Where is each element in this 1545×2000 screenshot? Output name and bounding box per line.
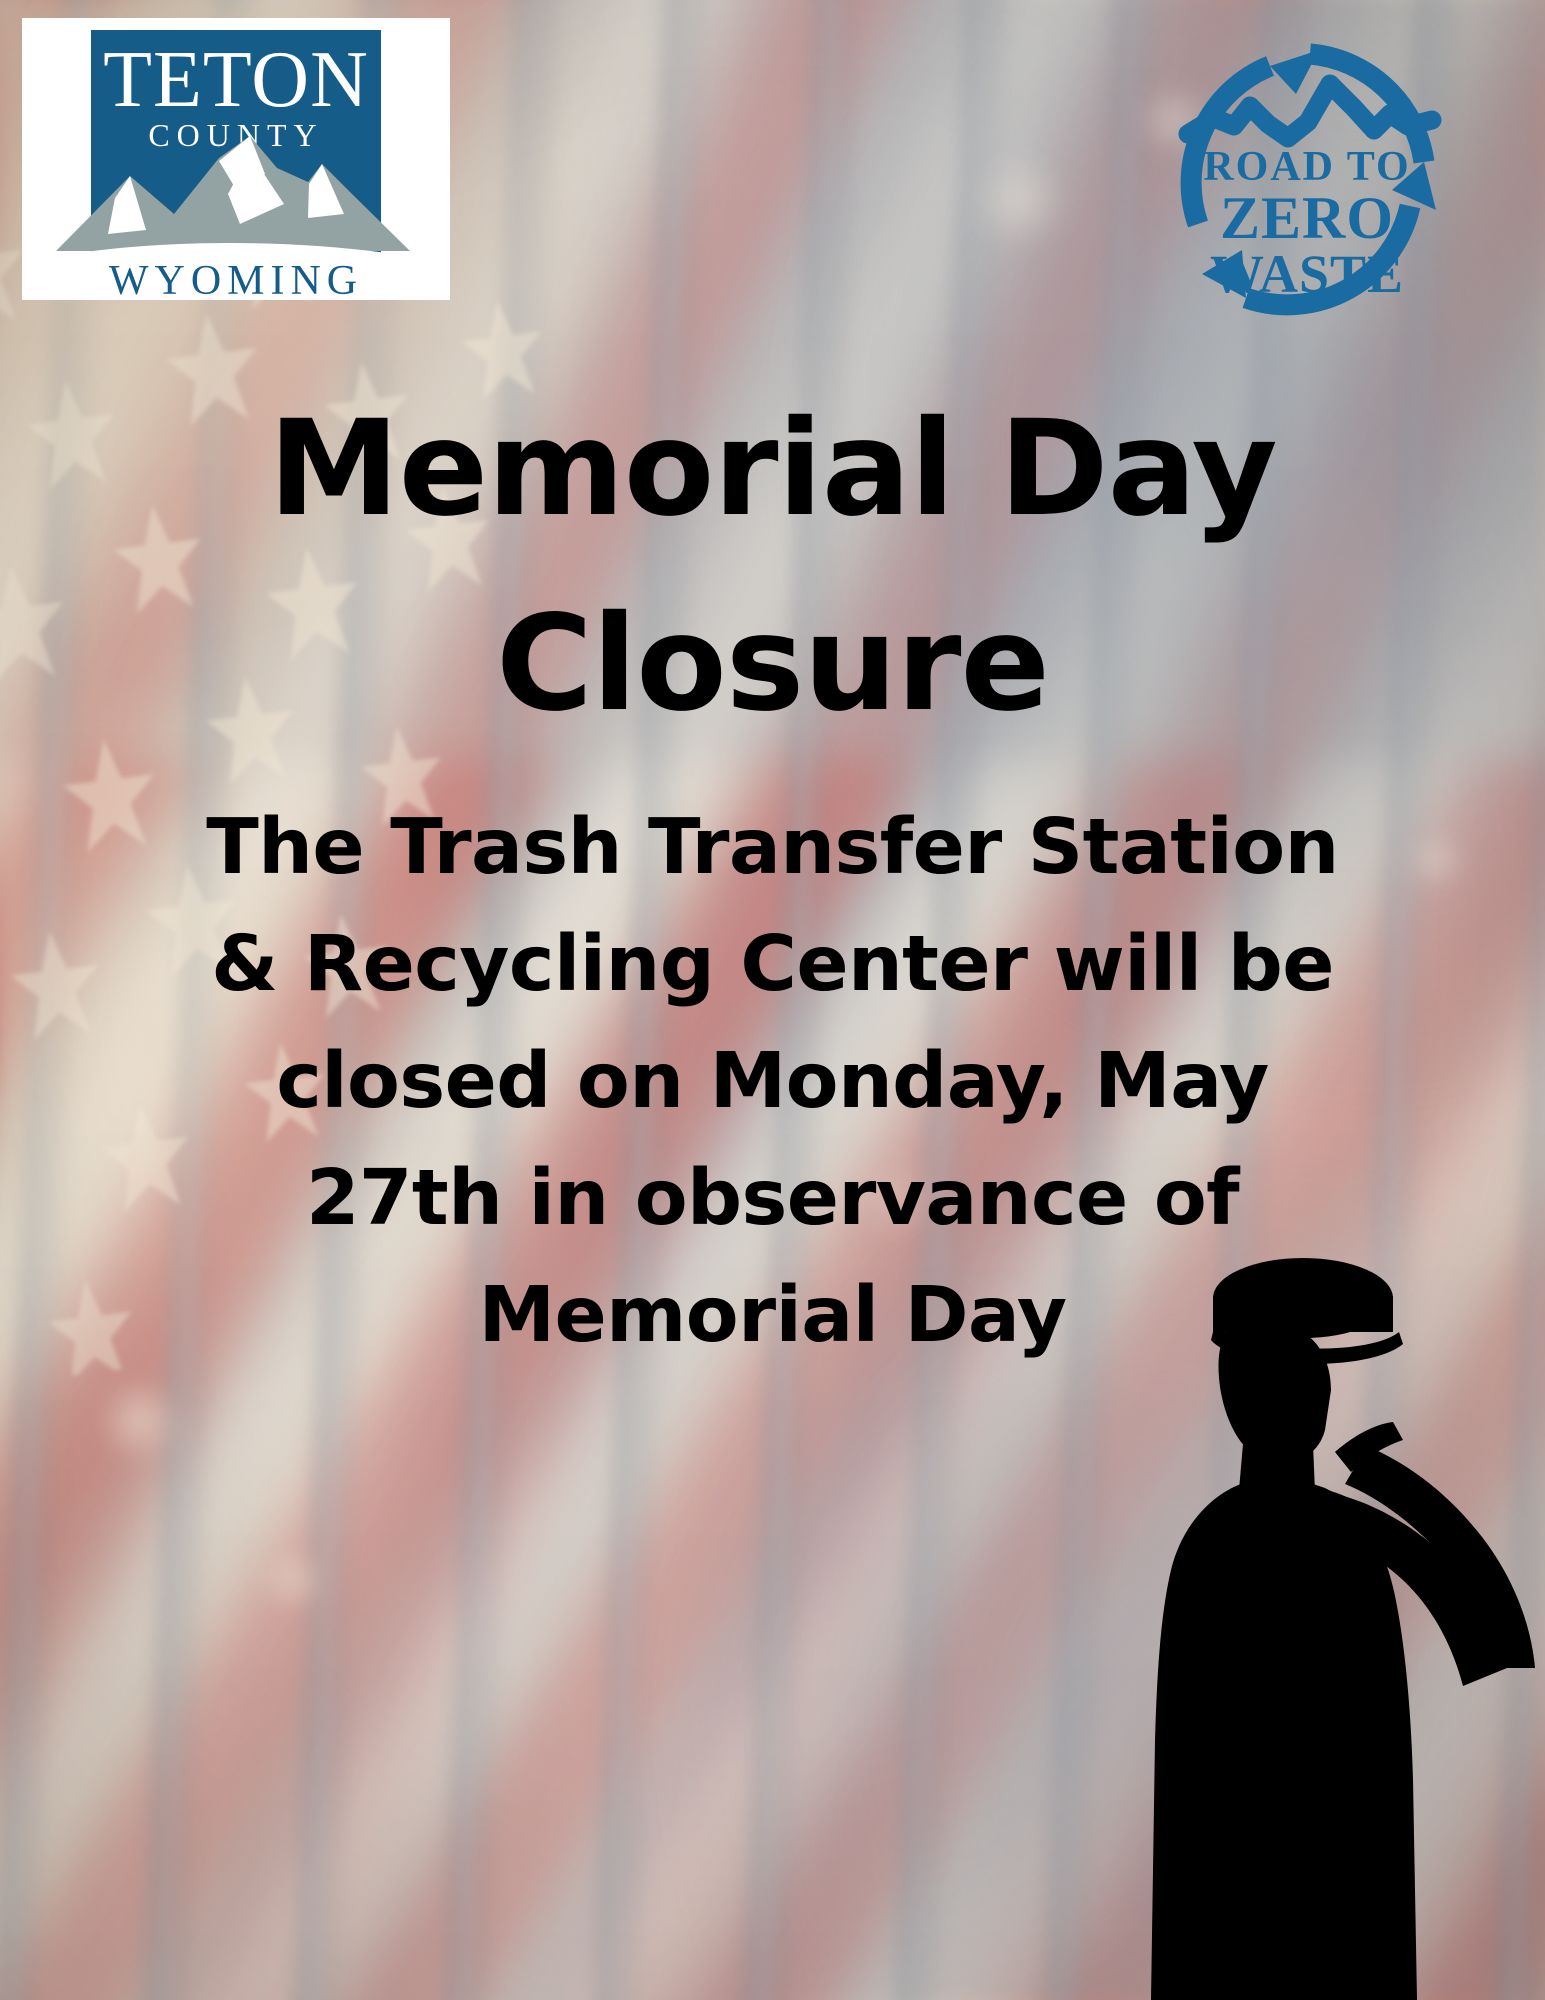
teton-logo-line3: WYOMING xyxy=(109,258,363,300)
memorial-day-closure-poster: TETON COUNTY WYOMING xyxy=(0,0,1545,2000)
closure-message-line: Memorial Day xyxy=(12,1257,1533,1374)
zero-waste-line1: ROAD TO xyxy=(1203,144,1410,190)
teton-county-wyoming-logo: TETON COUNTY WYOMING xyxy=(22,18,450,300)
road-to-zero-waste-logo: ROAD TO ZERO WASTE xyxy=(1142,10,1472,340)
headline-line-2: Closure xyxy=(58,567,1487,762)
page-title: Memorial Day Closure xyxy=(58,372,1487,763)
closure-message-line: & Recycling Center will be xyxy=(12,906,1533,1023)
headline-line-1: Memorial Day xyxy=(58,372,1487,567)
zero-waste-line2: ZERO xyxy=(1220,185,1394,251)
poster-text-block: Memorial Day Closure The Trash Transfer … xyxy=(0,372,1545,1374)
closure-message-line: 27th in observance of xyxy=(12,1140,1533,1257)
zero-waste-line3: WASTE xyxy=(1210,244,1404,304)
closure-message-line: The Trash Transfer Station xyxy=(12,789,1533,906)
closure-message-line: closed on Monday, May xyxy=(12,1023,1533,1140)
teton-logo-line1: TETON xyxy=(103,36,369,124)
closure-message: The Trash Transfer Station & Recycling C… xyxy=(12,789,1533,1374)
